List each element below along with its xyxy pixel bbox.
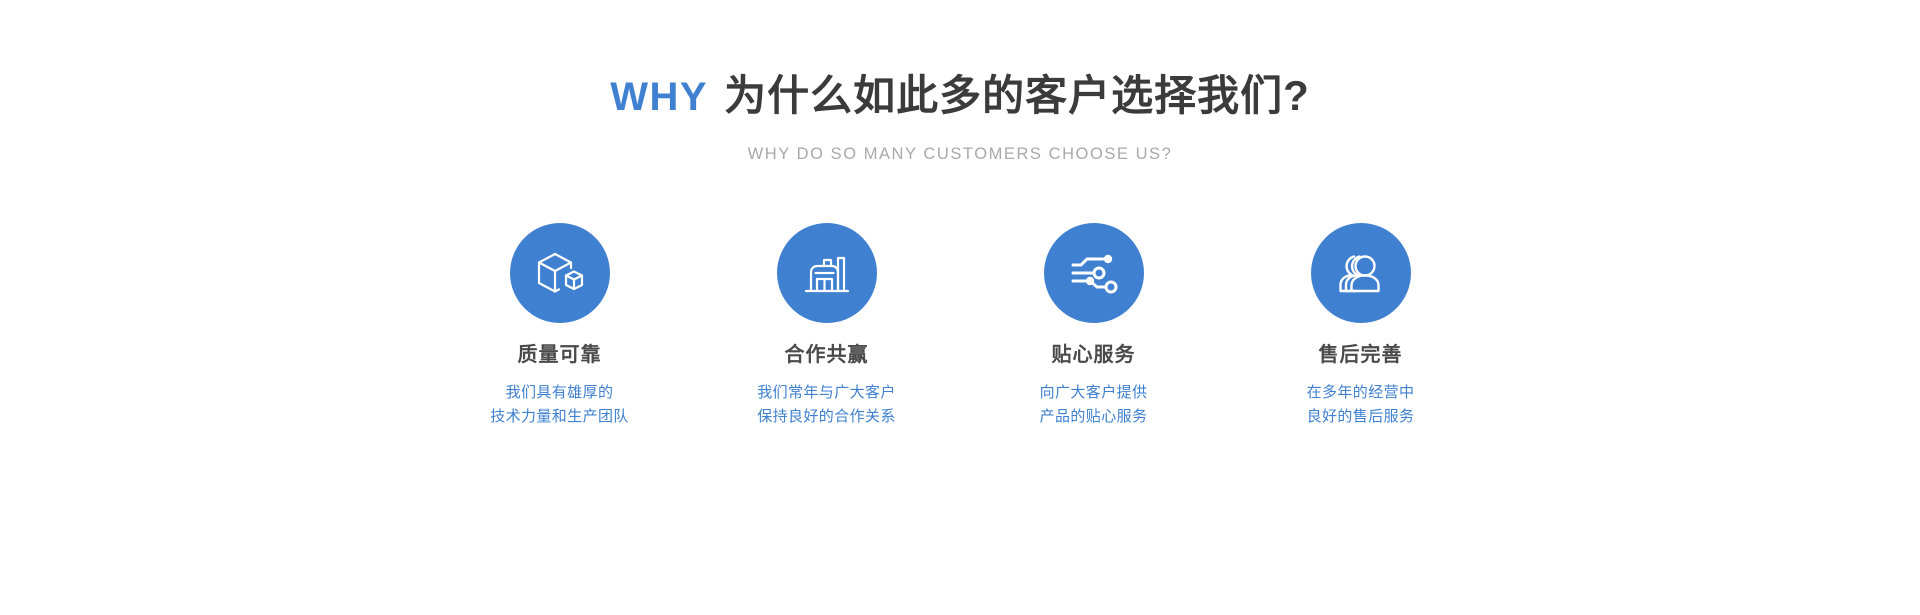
feature-card-aftersales[interactable]: 售后完善 在多年的经营中 良好的售后服务 xyxy=(1227,223,1494,429)
feature-cards-row: 质量可靠 我们具有雄厚的 技术力量和生产团队 xyxy=(426,223,1494,429)
icon-circle-cooperation xyxy=(777,223,877,323)
page-subtitle: WHY DO SO MANY CUSTOMERS CHOOSE US? xyxy=(0,145,1920,164)
feature-card-description: 向广大客户提供 产品的贴心服务 xyxy=(1040,381,1148,429)
feature-card-title: 售后完善 xyxy=(1319,343,1403,367)
description-line-2: 产品的贴心服务 xyxy=(1040,405,1148,429)
feature-card-title: 质量可靠 xyxy=(518,343,602,367)
icon-circle-aftersales xyxy=(1311,223,1411,323)
description-line-2: 保持良好的合作关系 xyxy=(757,405,896,429)
circuit-network-icon xyxy=(1067,246,1121,300)
description-line-1: 向广大客户提供 xyxy=(1040,381,1148,405)
feature-card-service[interactable]: 贴心服务 向广大客户提供 产品的贴心服务 xyxy=(960,223,1227,429)
title-prefix-why: WHY xyxy=(610,75,708,119)
title-chinese: 为什么如此多的客户选择我们? xyxy=(724,72,1310,119)
feature-card-description: 我们常年与广大客户 保持良好的合作关系 xyxy=(757,381,896,429)
feature-card-title: 贴心服务 xyxy=(1052,343,1136,367)
feature-card-cooperation[interactable]: 合作共赢 我们常年与广大客户 保持良好的合作关系 xyxy=(693,223,960,429)
feature-card-title: 合作共赢 xyxy=(785,343,869,367)
description-line-1: 在多年的经营中 xyxy=(1307,381,1415,405)
feature-card-description: 在多年的经营中 良好的售后服务 xyxy=(1307,381,1415,429)
users-group-icon xyxy=(1334,246,1388,300)
description-line-2: 良好的售后服务 xyxy=(1307,405,1415,429)
package-box-icon xyxy=(533,246,587,300)
why-choose-us-section: WHY为什么如此多的客户选择我们? WHY DO SO MANY CUSTOME… xyxy=(0,0,1920,615)
description-line-2: 技术力量和生产团队 xyxy=(490,405,629,429)
description-line-1: 我们具有雄厚的 xyxy=(490,381,629,405)
page-title: WHY为什么如此多的客户选择我们? xyxy=(0,72,1920,120)
factory-icon xyxy=(800,246,854,300)
icon-circle-quality xyxy=(510,223,610,323)
description-line-1: 我们常年与广大客户 xyxy=(757,381,896,405)
heading-block: WHY为什么如此多的客户选择我们? WHY DO SO MANY CUSTOME… xyxy=(0,72,1920,164)
feature-card-description: 我们具有雄厚的 技术力量和生产团队 xyxy=(490,381,629,429)
icon-circle-service xyxy=(1044,223,1144,323)
feature-card-quality[interactable]: 质量可靠 我们具有雄厚的 技术力量和生产团队 xyxy=(426,223,693,429)
